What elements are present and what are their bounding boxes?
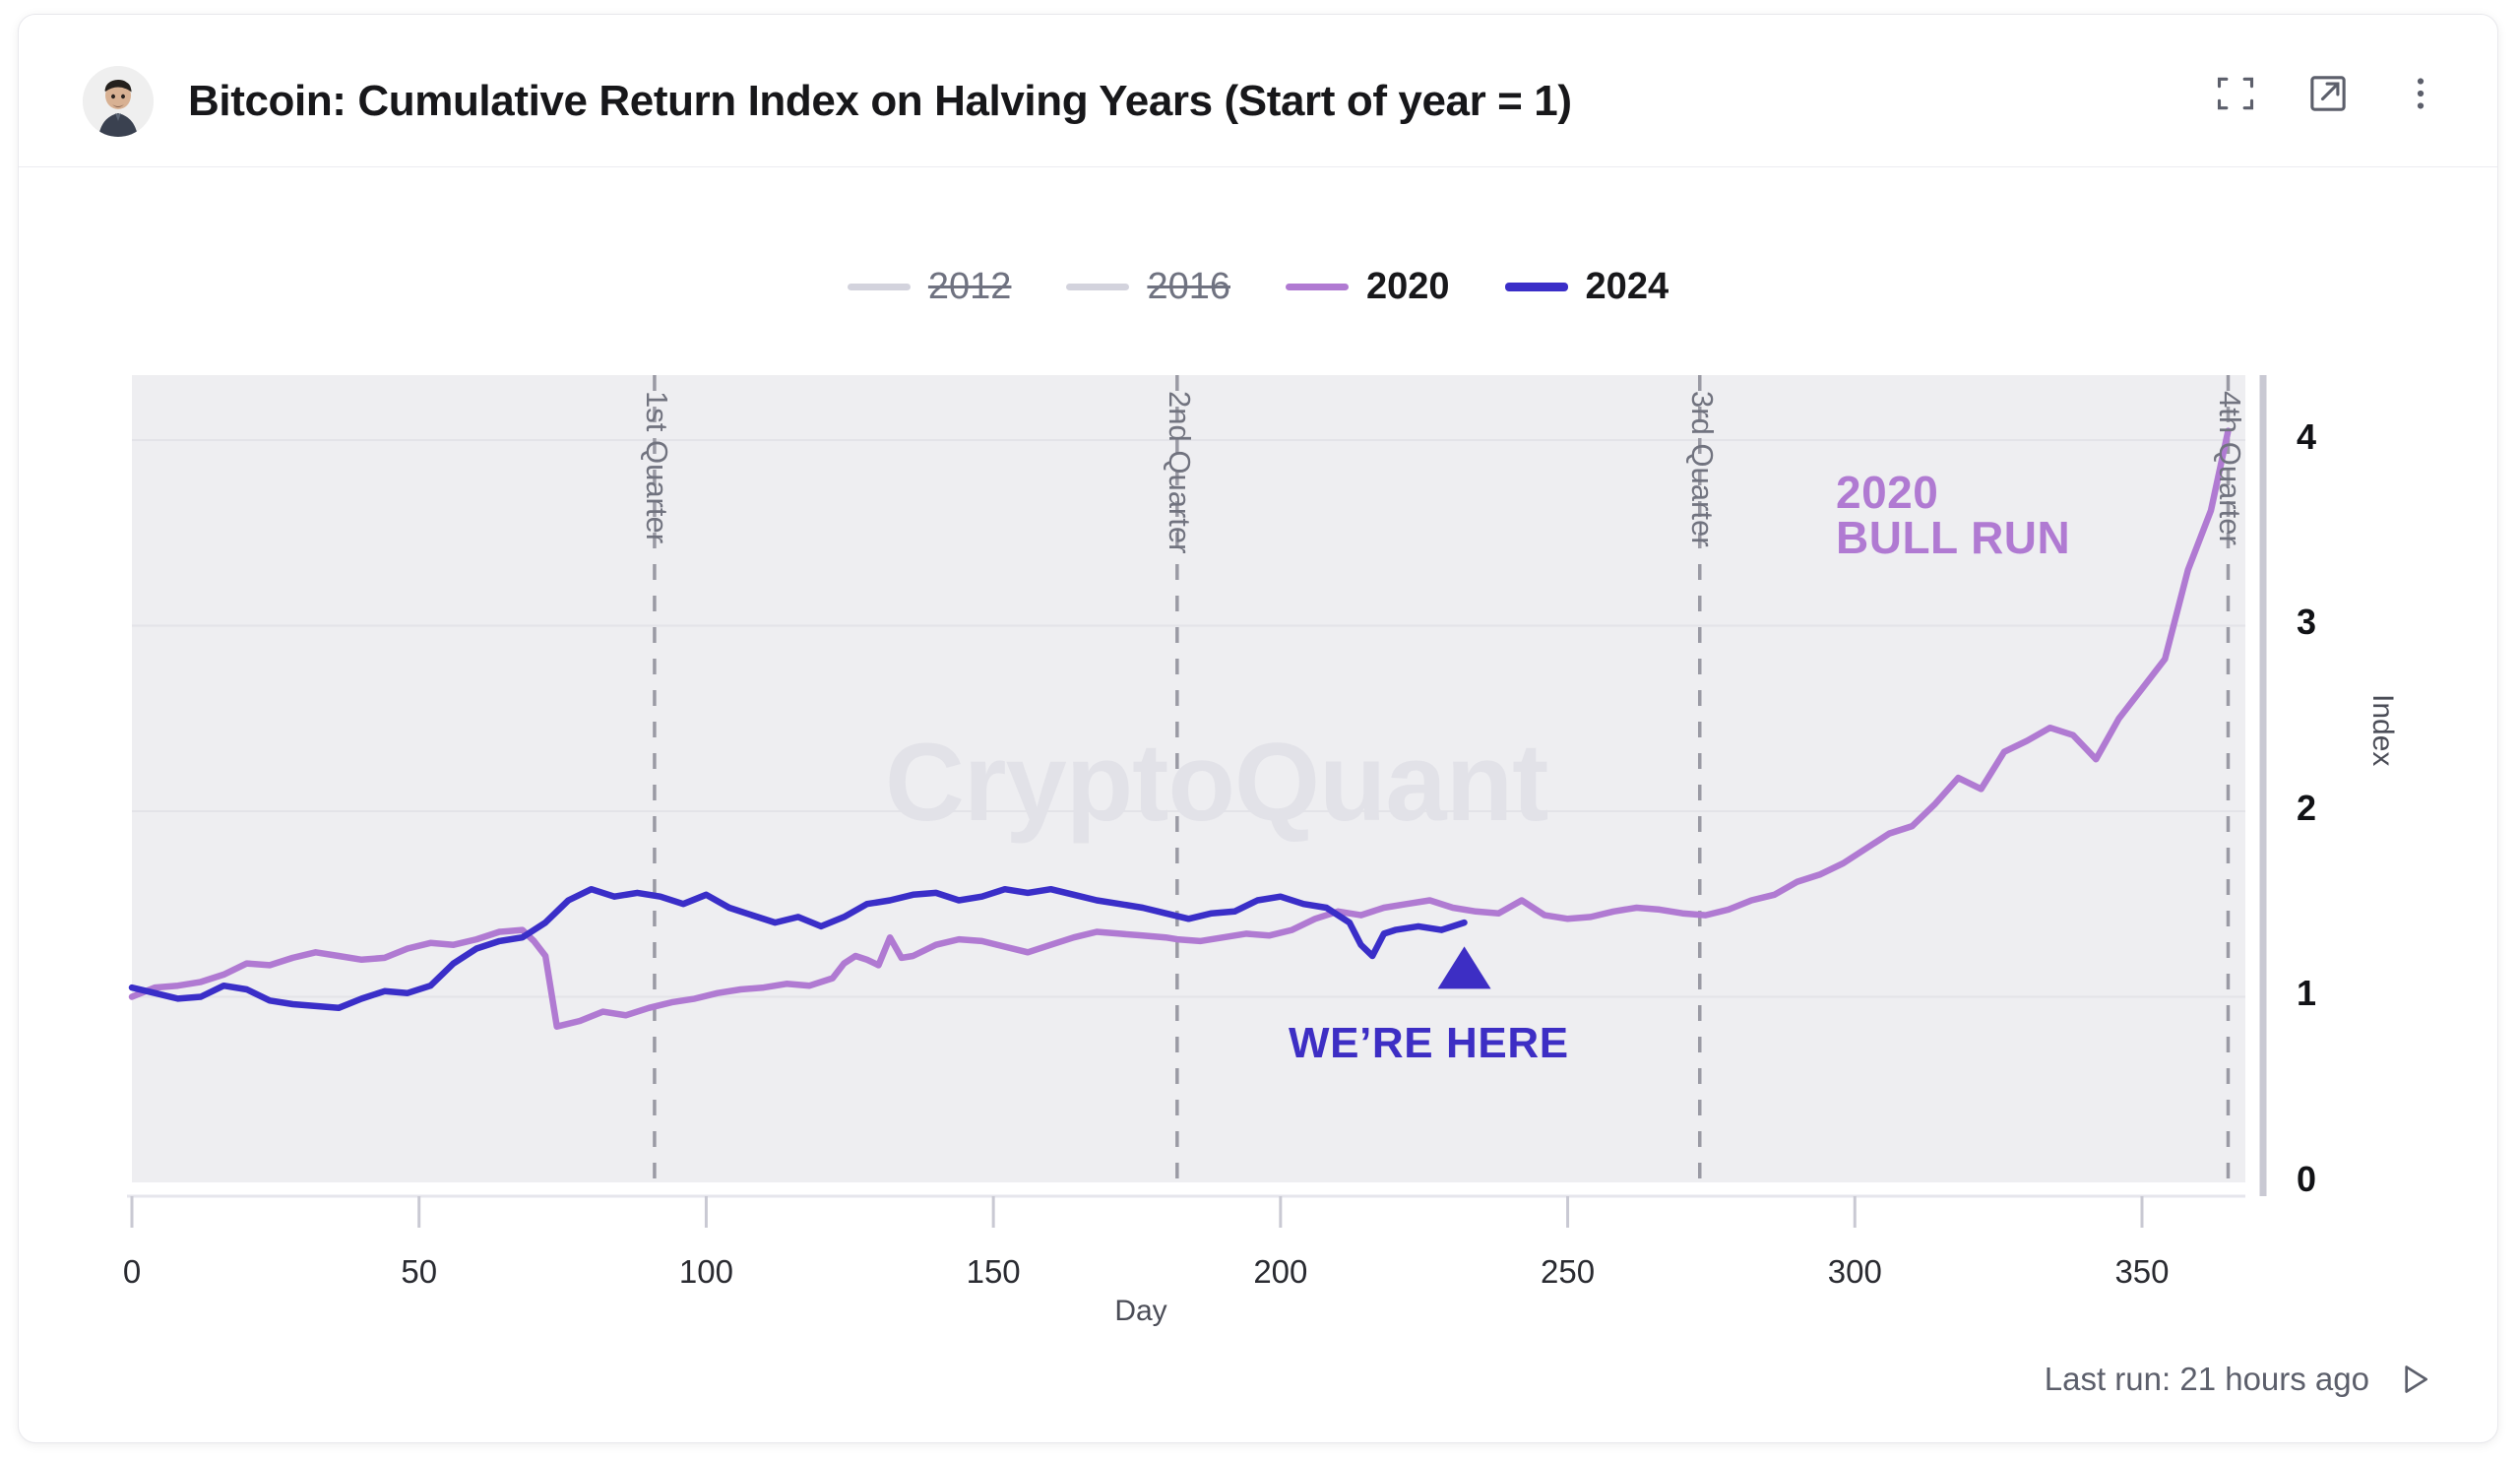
y-tick-label: 4 [2297, 416, 2316, 458]
quarter-label-4: 4th Quarter [2212, 391, 2247, 545]
chart-card: Bitcoin: Cumulative Return Index on Halv… [18, 14, 2498, 1443]
quarter-label-2: 2nd Quarter [1162, 391, 1197, 553]
x-tick-label: 100 [647, 1253, 765, 1291]
play-icon[interactable] [2395, 1360, 2434, 1399]
watermark: CryptoQuant [885, 719, 1547, 846]
quarter-label-1: 1st Quarter [639, 391, 674, 543]
y-tick-label: 2 [2297, 788, 2316, 829]
x-tick-label: 350 [2083, 1253, 2201, 1291]
x-axis-title: Day [19, 1295, 2263, 1328]
y-axis-title: Index [2365, 694, 2399, 766]
annotation-bull-run-line1: 2020 [1836, 470, 2070, 515]
y-tick-label: 1 [2297, 973, 2316, 1014]
annotation-were-here: WE’RE HERE [1289, 1019, 1569, 1068]
y-tick-label: 0 [2297, 1159, 2316, 1200]
annotation-bull-run-line2: BULL RUN [1836, 515, 2070, 560]
x-tick-label: 300 [1795, 1253, 1914, 1291]
chart-plot-area: CryptoQuant 2020 BULL RUN WE’RE HERE Day… [19, 15, 2497, 1442]
last-run-text: Last run: 21 hours ago [2045, 1361, 2369, 1398]
x-tick-label: 0 [73, 1253, 191, 1291]
x-tick-label: 150 [934, 1253, 1052, 1291]
card-footer: Last run: 21 hours ago [2045, 1360, 2434, 1399]
x-tick-label: 50 [360, 1253, 478, 1291]
annotation-bull-run: 2020 BULL RUN [1836, 470, 2070, 560]
x-tick-label: 200 [1222, 1253, 1340, 1291]
y-tick-label: 3 [2297, 602, 2316, 643]
x-tick-label: 250 [1509, 1253, 1627, 1291]
quarter-label-3: 3rd Quarter [1684, 391, 1720, 547]
